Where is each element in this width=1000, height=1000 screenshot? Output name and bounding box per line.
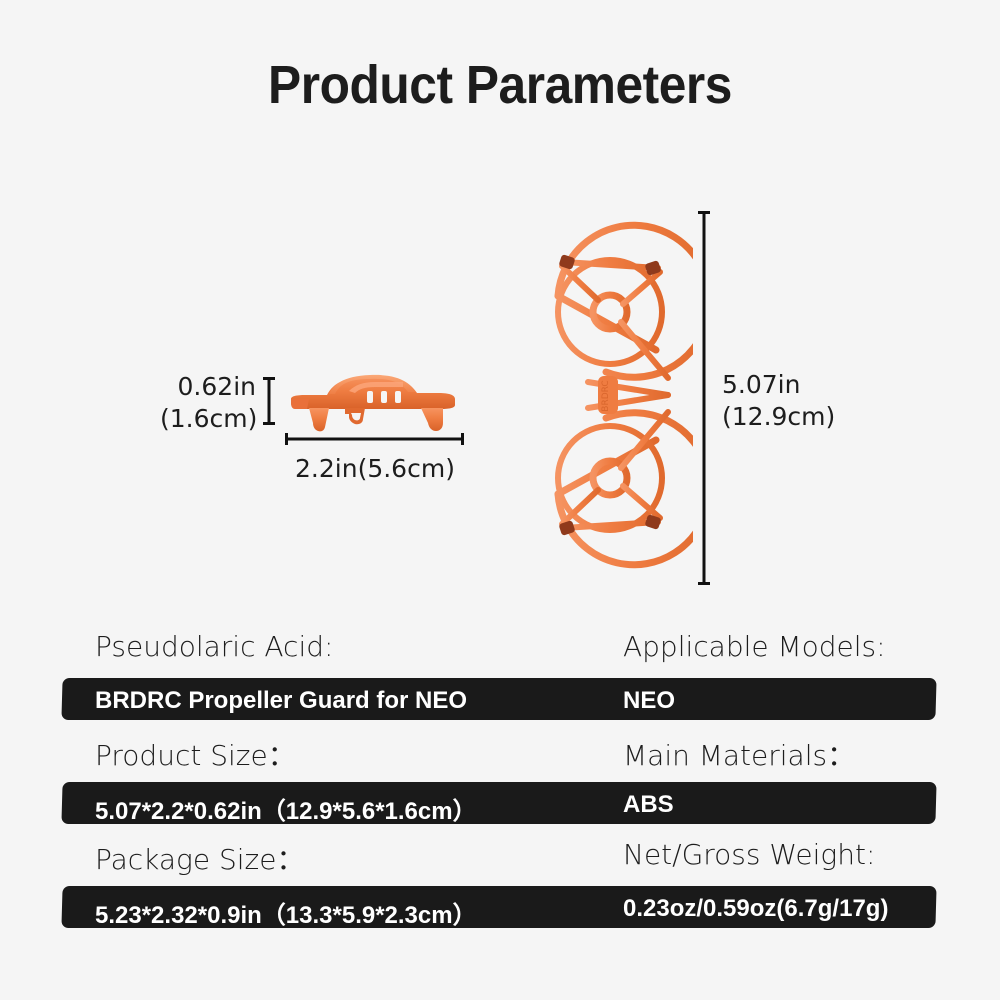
spec-label-applicable-models: Applicable Models: bbox=[623, 630, 886, 663]
page-title: Product Parameters bbox=[40, 54, 960, 116]
spec-table: Pseudolaric Acid: Applicable Models: BRD… bbox=[0, 630, 1000, 942]
propeller-guard-side-view-image bbox=[283, 365, 463, 437]
spec-row-values: 5.23*2.32*0.9in（13.3*5.9*2.3cm） 0.23oz/0… bbox=[0, 886, 1000, 928]
spec-row-values: BRDRC Propeller Guard for NEO NEO bbox=[0, 678, 1000, 720]
side-view-height-dimension-line bbox=[262, 377, 276, 425]
spec-row-labels: Package Size： Net/Gross Weight: bbox=[0, 838, 1000, 884]
spec-label-package-size: Package Size： bbox=[95, 838, 304, 878]
spec-row: Pseudolaric Acid: Applicable Models: BRD… bbox=[0, 630, 1000, 734]
side-view-width-dimension-label: 2.2in(5.6cm) bbox=[287, 453, 463, 485]
front-view-depth-dimension-line bbox=[697, 211, 711, 585]
spec-value-net-gross-weight: 0.23oz/0.59oz(6.7g/17g) bbox=[623, 895, 888, 923]
side-view-height-dimension-label: 0.62in (1.6cm) bbox=[160, 371, 256, 435]
spec-row-values: 5.07*2.2*0.62in（12.9*5.6*1.6cm） ABS bbox=[0, 782, 1000, 824]
spec-label-product-size: Product Size： bbox=[95, 734, 296, 774]
side-view-width-dimension-line bbox=[285, 432, 464, 446]
spec-label-main-materials: Main Materials： bbox=[623, 734, 855, 774]
spec-value-applicable-models: NEO bbox=[623, 687, 675, 715]
spec-label-pseudolaric-acid: Pseudolaric Acid: bbox=[95, 630, 333, 663]
spec-value-package-size: 5.23*2.32*0.9in（13.3*5.9*2.3cm） bbox=[95, 895, 477, 930]
front-view-depth-dimension-label: 5.07in (12.9cm) bbox=[722, 369, 892, 433]
spec-row: Product Size： Main Materials： 5.07*2.2*0… bbox=[0, 734, 1000, 838]
spec-row-labels: Product Size： Main Materials： bbox=[0, 734, 1000, 780]
spec-value-product-name: BRDRC Propeller Guard for NEO bbox=[95, 687, 467, 715]
propeller-guard-front-view-image: BRDRC bbox=[528, 200, 693, 590]
spec-value-product-size: 5.07*2.2*0.62in（12.9*5.6*1.6cm） bbox=[95, 791, 477, 826]
product-figure: 0.62in (1.6cm) bbox=[0, 180, 1000, 620]
spec-value-main-materials: ABS bbox=[623, 791, 674, 819]
spec-label-net-gross-weight: Net/Gross Weight: bbox=[623, 838, 875, 871]
brand-tab-label: BRDRC bbox=[601, 380, 611, 411]
spec-row: Package Size： Net/Gross Weight: 5.23*2.3… bbox=[0, 838, 1000, 942]
spec-row-labels: Pseudolaric Acid: Applicable Models: bbox=[0, 630, 1000, 676]
